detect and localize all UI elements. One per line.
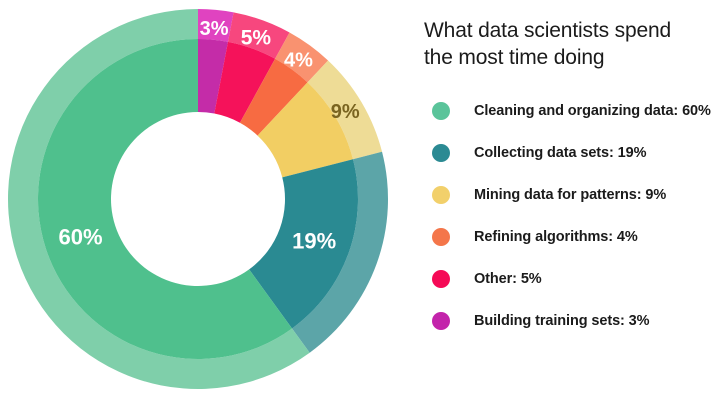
donut-chart-svg: 3%5%4%9%19%60% xyxy=(0,0,410,400)
chart-plot-area: 3%5%4%9%19%60% xyxy=(0,0,410,400)
legend-item[interactable]: Other: 5% xyxy=(424,258,719,300)
legend-swatch-icon xyxy=(432,270,450,288)
legend-item-label: Other: 5% xyxy=(474,271,542,287)
legend-item-label: Mining data for patterns: 9% xyxy=(474,187,666,203)
legend-item-label: Collecting data sets: 19% xyxy=(474,145,646,161)
donut-slice-value-label: 5% xyxy=(241,27,272,50)
legend-item[interactable]: Refining algorithms: 4% xyxy=(424,216,719,258)
legend-swatch-icon xyxy=(432,186,450,204)
legend-item[interactable]: Cleaning and organizing data: 60% xyxy=(424,90,719,132)
legend-item[interactable]: Mining data for patterns: 9% xyxy=(424,174,719,216)
chart-title-line-1: What data scientists spend xyxy=(424,18,709,45)
donut-slice-value-label: 60% xyxy=(59,225,103,250)
chart-title: What data scientists spend the most time… xyxy=(424,18,709,72)
legend-panel: What data scientists spend the most time… xyxy=(424,18,719,382)
legend-swatch-icon xyxy=(432,144,450,162)
legend-item[interactable]: Building training sets: 3% xyxy=(424,300,719,342)
legend-list: Cleaning and organizing data: 60%Collect… xyxy=(424,90,719,342)
chart-title-line-2: the most time doing xyxy=(424,45,709,72)
donut-inner-band xyxy=(38,39,358,359)
legend-item[interactable]: Collecting data sets: 19% xyxy=(424,132,719,174)
donut-slice-value-label: 19% xyxy=(292,228,336,253)
legend-swatch-icon xyxy=(432,228,450,246)
donut-slice-value-label: 4% xyxy=(284,50,313,72)
legend-swatch-icon xyxy=(432,102,450,120)
legend-item-label: Cleaning and organizing data: 60% xyxy=(474,103,711,119)
donut-slice-value-label: 9% xyxy=(331,101,360,123)
donut-chart-figure: 3%5%4%9%19%60% What data scientists spen… xyxy=(0,0,725,400)
legend-swatch-icon xyxy=(432,312,450,330)
legend-item-label: Building training sets: 3% xyxy=(474,313,649,329)
donut-slice-value-label: 3% xyxy=(200,18,229,40)
legend-item-label: Refining algorithms: 4% xyxy=(474,229,638,245)
